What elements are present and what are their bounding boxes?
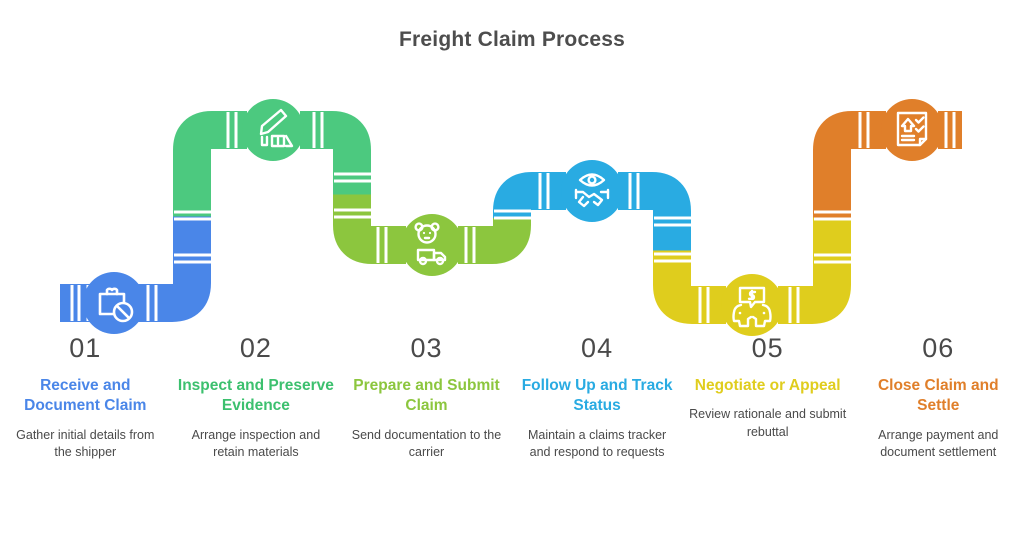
step-label: Inspect and Preserve Evidence — [177, 376, 336, 417]
step-item-04: 04 Follow Up and Track Status Maintain a… — [512, 334, 683, 462]
step-description: Maintain a claims tracker and respond to… — [518, 427, 677, 463]
step-icon-01[interactable] — [83, 272, 145, 334]
step-icon-04[interactable] — [561, 160, 623, 222]
step-number: 02 — [177, 334, 336, 364]
step-description: Gather initial details from the shipper — [6, 427, 165, 463]
step-number: 01 — [6, 334, 165, 364]
step-item-05: 05 Negotiate or Appeal Review rationale … — [682, 334, 853, 462]
step-item-01: 01 Receive and Document Claim Gather ini… — [0, 334, 171, 462]
step-label: Close Claim and Settle — [859, 376, 1018, 417]
step-number: 03 — [347, 334, 506, 364]
step-icon-02[interactable] — [242, 99, 304, 161]
step-label: Follow Up and Track Status — [518, 376, 677, 417]
step-label: Prepare and Submit Claim — [347, 376, 506, 417]
step-item-02: 02 Inspect and Preserve Evidence Arrange… — [171, 334, 342, 462]
step-description: Review rationale and submit rebuttal — [688, 406, 847, 442]
step-description: Send documentation to the carrier — [347, 427, 506, 463]
step-item-03: 03 Prepare and Submit Claim Send documen… — [341, 334, 512, 462]
step-icon-06[interactable] — [881, 99, 943, 161]
step-list: 01 Receive and Document Claim Gather ini… — [0, 334, 1024, 462]
step-description: Arrange inspection and retain materials — [177, 427, 336, 463]
step-label: Receive and Document Claim — [6, 376, 165, 417]
step-number: 05 — [688, 334, 847, 364]
step-label: Negotiate or Appeal — [688, 376, 847, 396]
step-number: 04 — [518, 334, 677, 364]
step-number: 06 — [859, 334, 1018, 364]
step-icon-05[interactable] — [721, 274, 783, 336]
freight-claim-process-infographic: Freight Claim Process — [0, 0, 1024, 541]
step-icon-03[interactable] — [401, 214, 463, 276]
step-item-06: 06 Close Claim and Settle Arrange paymen… — [853, 334, 1024, 462]
step-description: Arrange payment and document settlement — [859, 427, 1018, 463]
